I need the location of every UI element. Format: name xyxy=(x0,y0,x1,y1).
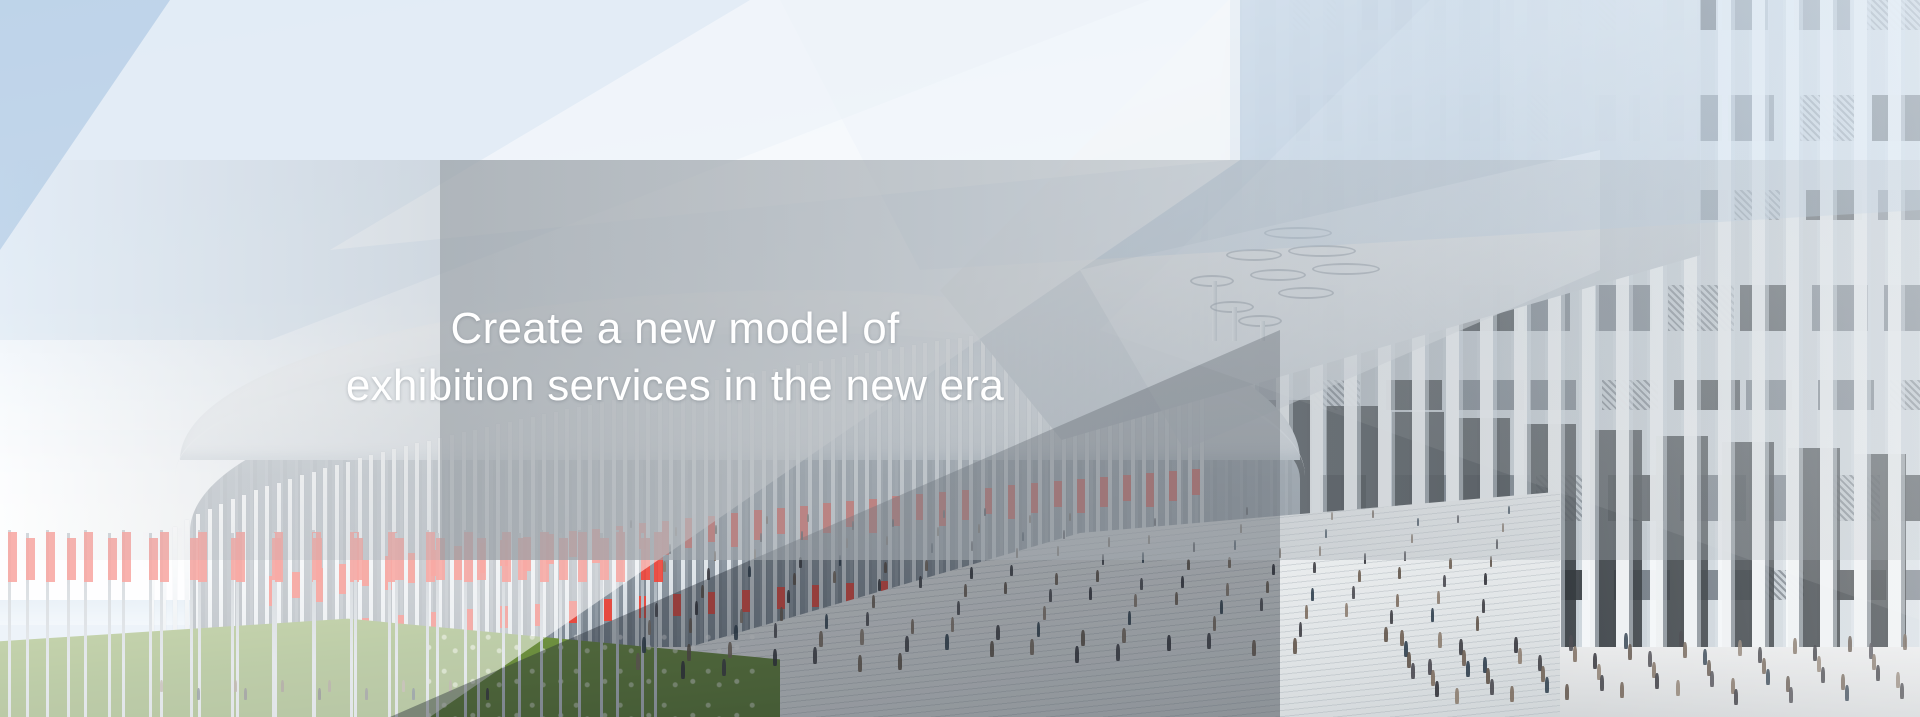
headline-line-1: Create a new model of xyxy=(451,304,900,353)
hero-banner: Create a new model of exhibition service… xyxy=(0,0,1920,717)
headline-line-2: exhibition services in the new era xyxy=(0,357,1350,414)
page-title: Create a new model of exhibition service… xyxy=(0,300,1350,414)
